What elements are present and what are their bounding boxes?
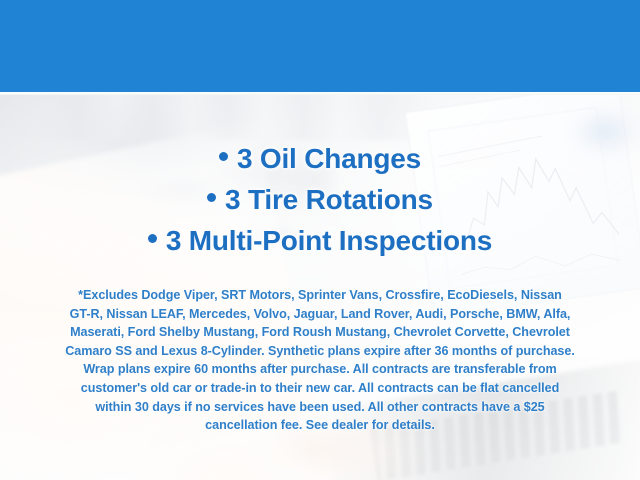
disclaimer-line: cancellation fee. See dealer for details… — [26, 416, 614, 435]
list-item-label: 3 Oil Changes — [237, 143, 421, 174]
disclaimer-line: customer's old car or trade-in to their … — [26, 379, 614, 398]
list-item-label: 3 Multi-Point Inspections — [166, 225, 492, 256]
bullet-dot-icon — [148, 234, 157, 243]
list-item: 3 Multi-Point Inspections — [0, 220, 640, 261]
benefits-list: 3 Oil Changes 3 Tire Rotations 3 Multi-P… — [0, 138, 640, 261]
bullet-dot-icon — [207, 193, 216, 202]
list-item-label: 3 Tire Rotations — [225, 184, 433, 215]
list-item: 3 Tire Rotations — [0, 179, 640, 220]
disclaimer-text: *Excludes Dodge Viper, SRT Motors, Sprin… — [26, 286, 614, 435]
header-bar — [0, 0, 640, 92]
list-item: 3 Oil Changes — [0, 138, 640, 179]
disclaimer-line: within 30 days if no services have been … — [26, 398, 614, 417]
disclaimer-line: GT-R, Nissan LEAF, Mercedes, Volvo, Jagu… — [26, 305, 614, 324]
disclaimer-line: Wrap plans expire 60 months after purcha… — [26, 360, 614, 379]
header-divider — [0, 92, 640, 95]
bullet-dot-icon — [219, 152, 228, 161]
disclaimer-line: Maserati, Ford Shelby Mustang, Ford Rous… — [26, 323, 614, 342]
disclaimer-line: *Excludes Dodge Viper, SRT Motors, Sprin… — [26, 286, 614, 305]
extracare-package-banner: ExtraCare Package* 3 Oil Changes 3 Tire … — [0, 0, 640, 480]
disclaimer-line: Camaro SS and Lexus 8-Cylinder. Syntheti… — [26, 342, 614, 361]
